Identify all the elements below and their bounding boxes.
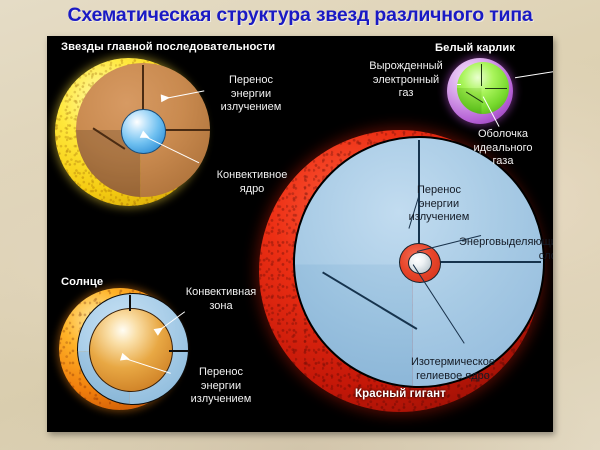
ms-cut-line-vertical (142, 65, 144, 111)
rg-shell-label: Энерговыделяющий слой (435, 236, 553, 263)
diagram-panel: Звезды главной последовательности Перено… (47, 36, 553, 432)
sun-convective-label: Конвективная зона (163, 286, 279, 313)
red-giant-isothermal-helium-core (408, 252, 432, 274)
rg-core-label: Изотермическое гелиевое ядро (383, 356, 523, 383)
wd-cut-line-vertical (481, 64, 482, 86)
sun-header: Солнце (61, 276, 103, 288)
main-sequence-star-figure (55, 58, 215, 218)
wd-degenerate-gas-label: Вырожденный электронный газ (353, 60, 459, 101)
sun-radiative-label: Перенос энергии излучением (167, 366, 275, 407)
wd-ideal-gas-label: Оболочка идеального газа (449, 128, 553, 169)
sun-cut-line-vertical (129, 295, 131, 311)
main-sequence-header: Звезды главной последовательности (61, 41, 275, 53)
rg-radiative-label: Перенос энергии излучением (391, 184, 487, 225)
red-giant-header: Красный гигант (355, 388, 446, 400)
ms-core-label: Конвективное ядро (193, 169, 311, 196)
white-dwarf-header: Белый карлик (435, 42, 515, 54)
slide-root: Схематическая структура звезд различного… (0, 0, 600, 450)
slide-title: Схематическая структура звезд различного… (0, 4, 600, 27)
sun-radiative-zone (89, 308, 173, 392)
wd-cut-line-right (485, 88, 507, 89)
ms-radiative-label: Перенос энергии излучением (199, 74, 303, 115)
ms-radiative-arrow (161, 94, 171, 103)
sun-cut-line-right (169, 350, 189, 352)
ms-cut-line-right (162, 129, 210, 131)
